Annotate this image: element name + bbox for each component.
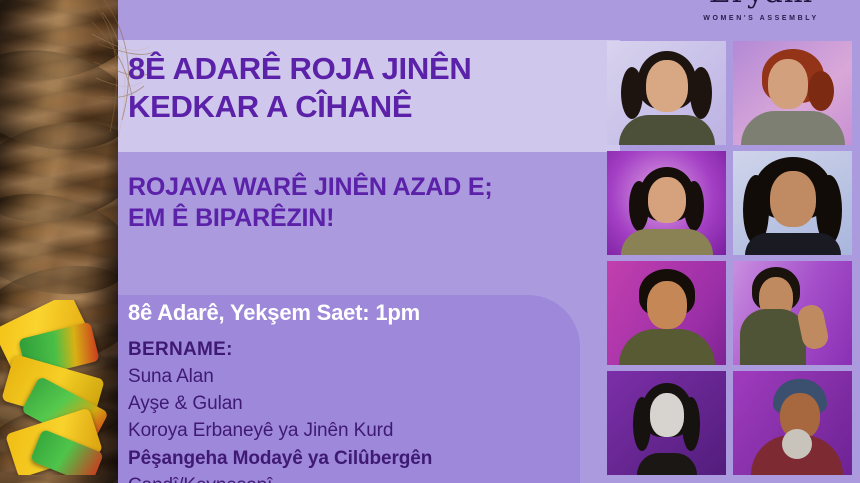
portrait-photo (607, 41, 726, 145)
headline-line-2: KEDKAR A CÎHANÊ (128, 88, 598, 126)
program-label: BERNAME: (128, 336, 558, 363)
portrait-photo (733, 371, 852, 475)
program-item-1: Ayşe & Gulan (128, 390, 558, 417)
portrait-photo (733, 151, 852, 255)
portrait-photo (607, 371, 726, 475)
subhead-line-1: ROJAVA WARÊ JINÊN AZAD E; (128, 172, 598, 203)
event-datetime: 8ê Adarê, Yekşem Saet: 1pm (128, 300, 420, 326)
portrait-photo (733, 261, 852, 365)
portrait-photo (733, 41, 852, 145)
organization-logo: Eryam WOMEN'S ASSEMBLY (686, 0, 836, 22)
program-item-4: Çandî/Keynesopî (128, 472, 558, 483)
subtitle: ROJAVA WARÊ JINÊN AZAD E; EM Ê BIPARÊZIN… (128, 172, 598, 234)
program-list: BERNAME: Suna Alan Ayşe & Gulan Koroya E… (128, 336, 558, 483)
program-item-0: Suna Alan (128, 363, 558, 390)
page-title: 8Ê ADARÊ ROJA JINÊN KEDKAR A CÎHANÊ (128, 50, 598, 125)
poster-canvas: Eryam WOMEN'S ASSEMBLY 8Ê ADARÊ ROJA JIN… (0, 0, 860, 483)
martyr-photo-grid (607, 41, 852, 475)
program-item-3: Pêşangeha Modayê ya Cilûbergên (128, 445, 558, 472)
headline-line-1: 8Ê ADARÊ ROJA JINÊN (128, 50, 598, 88)
kurdish-ribbon (0, 300, 112, 475)
subhead-line-2: EM Ê BIPARÊZIN! (128, 203, 598, 234)
program-item-2: Koroya Erbaneyê ya Jinên Kurd (128, 417, 558, 444)
logo-tagline: WOMEN'S ASSEMBLY (686, 15, 836, 22)
logo-wordmark: Eryam (686, 0, 836, 8)
portrait-photo (607, 261, 726, 365)
portrait-photo (607, 151, 726, 255)
